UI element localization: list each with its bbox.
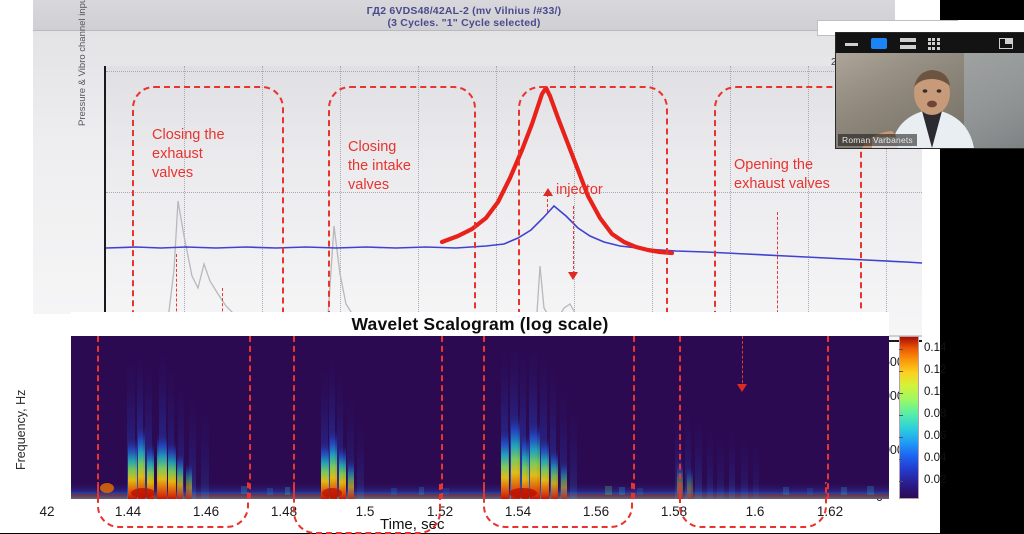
grid-view-icon[interactable] [928, 38, 942, 49]
pointer-line-injector-down [573, 206, 574, 274]
scalogram-xtick-6: 1.54 [493, 504, 543, 519]
scalogram-heatmap [71, 336, 889, 499]
colorbar-tick-0.02: 0.02 [924, 474, 946, 486]
colorbar-tick-0.08: 0.08 [924, 408, 946, 420]
pointer-arrow-exhaust-open-lower [737, 384, 747, 392]
video-window-toolbar [836, 33, 1024, 53]
scalogram-title: Wavelet Scalogram (log scale) [71, 312, 889, 336]
split-view-icon[interactable] [900, 38, 916, 49]
region-edge-2b [441, 336, 443, 499]
video-call-window[interactable]: Roman Varbanets [836, 33, 1024, 148]
colorbar-tick-0.1: 0.1 [924, 386, 940, 398]
colorbar-tick-0.04: 0.04 [924, 452, 946, 464]
region-edge-4b [827, 336, 829, 499]
pressure-vibro-traces [106, 66, 924, 342]
pressure-trace-red [442, 88, 672, 253]
region-edge-3b [633, 336, 635, 499]
scalogram-ylabel: Frequency, Hz [14, 350, 28, 470]
annotation-closing-exhaust-valves: Closing the exhaust valves [152, 126, 225, 183]
pointer-line-exhaust-open [777, 212, 778, 328]
region-edge-1a [97, 336, 99, 499]
pointer-arrow-injector-up [543, 188, 553, 196]
scalogram-xtick-10: 1.62 [805, 504, 855, 519]
speaker-view-icon[interactable] [871, 38, 887, 49]
pressure-plot-ylabel: Pressure & Vibro channel input, Volt [77, 0, 91, 126]
scalogram-colorbar [899, 336, 919, 499]
pointer-line-injector-up [547, 194, 548, 212]
plot-title-bar: ГД2 6VDS48/42AL-2 (mv Vilnius /#33/) (3 … [33, 0, 895, 31]
region-edge-2a [293, 336, 295, 499]
popout-icon[interactable] [999, 38, 1013, 49]
pressure-vibro-plot: Pressure & Vibro channel input, Volt 0,0… [33, 31, 895, 314]
scalogram-xtick-9: 1.6 [730, 504, 780, 519]
annotation-injector: injector [556, 181, 603, 200]
pressure-plot-axes: Closing the exhaust valves Closing the i… [104, 66, 922, 342]
scalogram-xtick-0: 42 [22, 504, 72, 519]
region-edge-1b [249, 336, 251, 499]
colorbar-tick-0.06: 0.06 [924, 430, 946, 442]
pressure-trace-blue [106, 206, 922, 263]
scalogram-xtick-3: 1.48 [259, 504, 309, 519]
region-edge-3a [483, 336, 485, 499]
plot-title-line1: ГД2 6VDS48/42AL-2 (mv Vilnius /#33/) [33, 5, 895, 17]
minimize-icon[interactable] [845, 43, 858, 46]
annotation-opening-exhaust-valves: Opening the exhaust valves [734, 156, 830, 194]
pointer-line-exhaust-open-lower [742, 336, 743, 388]
pointer-arrow-injector-down [568, 272, 578, 280]
video-feed[interactable]: Roman Varbanets [836, 53, 1024, 148]
region-edge-4a [679, 336, 681, 499]
participant-name-label: Roman Varbanets [838, 134, 917, 146]
scalogram-xtick-7: 1.56 [571, 504, 621, 519]
scalogram-xlabel: Time, sec [380, 516, 444, 533]
screen: ГД2 6VDS48/42AL-2 (mv Vilnius /#33/) (3 … [0, 0, 1024, 533]
plot-title-line2: (3 Cycles. "1" Cycle selected) [33, 17, 895, 29]
colorbar-tick-0.12: 0.12 [924, 364, 946, 376]
scalogram-xtick-8: 1.58 [649, 504, 699, 519]
scalogram-image [71, 336, 889, 499]
annotation-closing-intake-valves: Closing the intake valves [348, 138, 411, 195]
scalogram-xtick-1: 1.44 [103, 504, 153, 519]
scalogram-xtick-2: 1.46 [181, 504, 231, 519]
analysis-app-document: ГД2 6VDS48/42AL-2 (mv Vilnius /#33/) (3 … [0, 0, 940, 533]
colorbar-tick-0.14: 0.14 [924, 342, 946, 354]
